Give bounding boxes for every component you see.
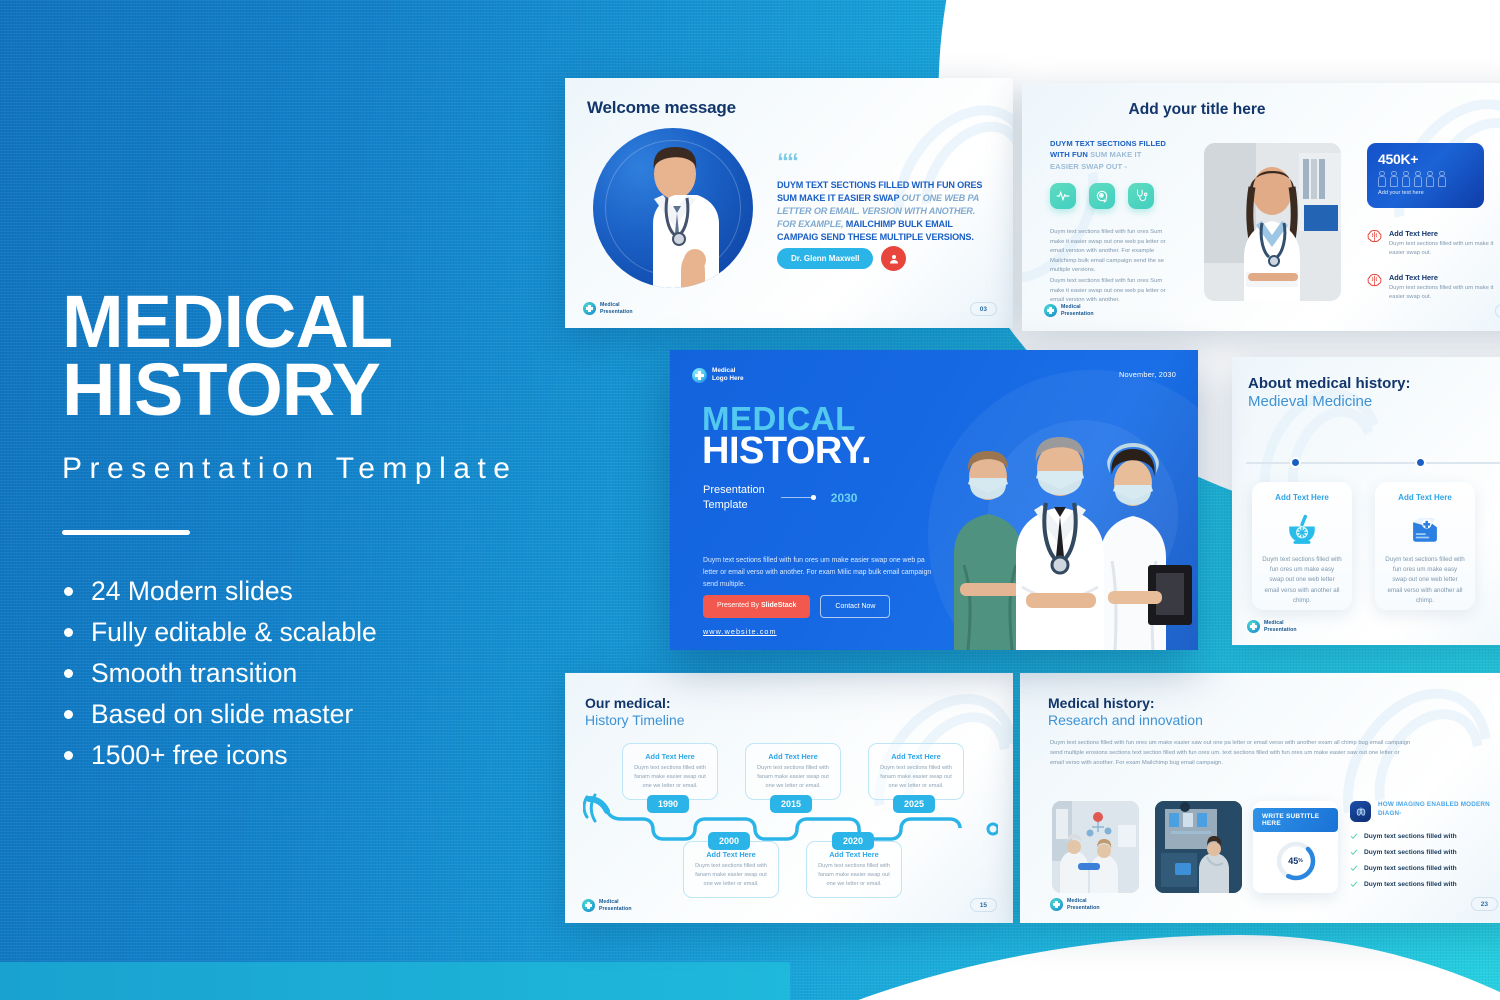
slide-heading-line2: History Timeline — [585, 712, 685, 728]
list-item: Duym text sections filled with — [1350, 832, 1500, 840]
contact-now-button[interactable]: Contact Now — [820, 595, 890, 618]
stethoscope-icon[interactable] — [1128, 183, 1154, 209]
info-card[interactable]: Add Text Here Duym text sections filled … — [1252, 482, 1352, 610]
footer-logo-line2: Presentation — [599, 906, 632, 912]
card-text: Duym text sections filled with fun ores … — [1262, 555, 1342, 606]
list-item: Based on slide master — [62, 694, 582, 735]
body-paragraph-2: Duym text sections filled with fun ores … — [1050, 277, 1175, 306]
list-item-label: Duym text sections filled with — [1364, 881, 1457, 888]
page-title-line2: HISTORY — [62, 356, 582, 424]
feature-list: 24 Modern slides Fully editable & scalab… — [62, 571, 582, 776]
decorative-bottom-strip — [0, 962, 790, 1000]
item-heading: Add Text Here — [1389, 273, 1497, 282]
hero-logo-text: Medical Logo Here — [712, 367, 744, 383]
slide-preview-welcome-message[interactable]: Welcome message ““ DUYM TEXT SECTIONS FI… — [565, 78, 1013, 328]
footer-logo: Medical Presentation — [1247, 620, 1297, 633]
hero-year: 2030 — [831, 491, 858, 505]
timeline-card[interactable]: Add Text Here Duym text sections filled … — [868, 743, 964, 800]
left-info-panel: MEDICAL HISTORY Presentation Template 24… — [62, 288, 582, 776]
mortar-pestle-icon — [1262, 508, 1342, 550]
person-icon — [1414, 171, 1420, 185]
list-item: 1500+ free icons — [62, 735, 582, 776]
author-name-pill[interactable]: Dr. Glenn Maxwell — [777, 248, 873, 269]
doctor-portrait-circle — [593, 128, 753, 288]
item-text: Duym text sections filled with um make i… — [1389, 240, 1497, 258]
medical-cross-icon — [1247, 620, 1260, 633]
stat-card: 450K+ Add your text here — [1367, 143, 1484, 208]
page-number-badge: 03 — [970, 302, 997, 316]
card-heading: Add Text Here — [630, 752, 710, 761]
slide-preview-research-innovation[interactable]: Medical history: Research and innovation… — [1020, 673, 1500, 923]
card-text: Duym text sections filled with fanam mak… — [876, 764, 956, 791]
user-icon — [881, 246, 906, 271]
hero-website-link[interactable]: www.website.com — [703, 627, 777, 636]
footer-logo-text: Medical Presentation — [1067, 898, 1100, 910]
person-icon — [1390, 171, 1396, 185]
person-icon — [1438, 171, 1444, 185]
female-doctor-photo — [1204, 143, 1341, 301]
check-icon — [1350, 832, 1358, 840]
hero-logo-line1: Medical — [712, 367, 744, 375]
timeline-year-badge: 1990 — [647, 795, 689, 813]
people-icons — [1378, 171, 1473, 185]
person-icon — [1378, 171, 1384, 185]
feature-icon-row — [1050, 183, 1154, 209]
medical-cross-icon — [692, 368, 707, 383]
card-text: Duym text sections filled with fun ores … — [1385, 555, 1465, 606]
lead-text: DUYM TEXT SECTIONS FILLED WITH FUN SUM M… — [1050, 138, 1168, 172]
item-text: Duym text sections filled with um make i… — [1389, 284, 1497, 302]
checklist: Duym text sections filled with Duym text… — [1350, 832, 1500, 888]
slide-preview-about-medical-history[interactable]: About medical history: Medieval Medicine… — [1232, 357, 1500, 645]
list-item: Duym text sections filled with — [1350, 848, 1500, 856]
timeline-year-badge: 2015 — [770, 795, 812, 813]
person-icon — [1402, 171, 1408, 185]
hero-subtitle-line1: Presentation — [703, 483, 765, 498]
footer-logo-line2: Presentation — [1061, 311, 1094, 317]
three-doctors-masked-photo — [930, 415, 1192, 650]
laboratory-equipment-photo — [1155, 801, 1242, 893]
arrow-icon — [781, 497, 815, 498]
progress-number: 45 — [1288, 856, 1298, 866]
side-panel-heading: HOW IMAGING ENABLED MODERN DIAGN- — [1378, 801, 1500, 818]
timeline-year-badge: 2000 — [708, 832, 750, 850]
slide-heading-line2: Research and innovation — [1048, 712, 1203, 728]
list-item: Fully editable & scalable — [62, 612, 582, 653]
person-icon — [1426, 171, 1432, 185]
lab-researchers-photo — [1052, 801, 1139, 893]
check-icon — [1350, 848, 1358, 856]
medical-cross-icon — [1044, 304, 1057, 317]
medical-cross-icon — [582, 899, 595, 912]
slide-preview-add-your-title[interactable]: Add your title here DUYM TEXT SECTIONS F… — [1022, 83, 1500, 331]
quote-block: ““ DUYM TEXT SECTIONS FILLED WITH FUN OR… — [777, 156, 989, 244]
slide-heading-line1: About medical history: — [1248, 375, 1411, 392]
card-heading: Add Text Here — [1262, 493, 1342, 502]
body-paragraph: Duym text sections filled with fun ores … — [1050, 739, 1415, 769]
page-number-badge: 23 — [1471, 897, 1498, 911]
list-item: Add Text Here Duym text sections filled … — [1367, 273, 1497, 302]
card-heading: Add Text Here — [691, 850, 771, 859]
info-card[interactable]: Add Text Here Duym text sections filled … — [1375, 482, 1475, 610]
footer-logo-line2: Presentation — [600, 309, 633, 315]
male-doctor-photo — [623, 140, 727, 288]
author-row: Dr. Glenn Maxwell — [777, 246, 906, 271]
slide-preview-history-timeline[interactable]: Our medical: History Timeline Add Text H… — [565, 673, 1013, 923]
hero-subtitle: Presentation Template — [703, 483, 765, 513]
footer-logo-line2: Presentation — [1264, 627, 1297, 633]
page-subtitle: Presentation Template — [62, 452, 582, 486]
footer-logo-text: Medical Presentation — [1264, 620, 1297, 632]
hero-logo-line2: Logo Here — [712, 375, 744, 383]
footer-logo: Medical Presentation — [1044, 304, 1094, 317]
list-item: Smooth transition — [62, 653, 582, 694]
slide-heading-line2: Medieval Medicine — [1248, 393, 1372, 410]
page-number-badge: 15 — [970, 898, 997, 912]
page-title: MEDICAL HISTORY — [62, 288, 582, 424]
quote-mark-icon: ““ — [777, 156, 989, 170]
research-side-panel: HOW IMAGING ENABLED MODERN DIAGN- Duym t… — [1350, 801, 1500, 896]
hero-subtitle-line2: Template — [703, 498, 765, 513]
brain-icon — [1367, 229, 1382, 243]
slide-heading: Add your title here — [1022, 101, 1372, 119]
card-text: Duym text sections filled with fanam mak… — [814, 862, 894, 889]
footer-logo-text: Medical Presentation — [1061, 304, 1094, 316]
lungs-icon — [1350, 801, 1371, 822]
timeline-year-badge: 2020 — [832, 832, 874, 850]
list-item: 24 Modern slides — [62, 571, 582, 612]
card-text: Duym text sections filled with fanam mak… — [691, 862, 771, 889]
timeline-card[interactable]: Add Text Here Duym text sections filled … — [745, 743, 841, 800]
slide-preview-hero-cover[interactable]: Medical Logo Here November, 2030 MEDICAL… — [670, 350, 1198, 650]
timeline-dot — [1415, 457, 1426, 468]
timeline-year-badge: 2025 — [893, 795, 935, 813]
hero-subtitle-row: Presentation Template 2030 — [703, 483, 857, 513]
presented-by-brand: SlideStack — [761, 602, 796, 609]
footer-logo-text: Medical Presentation — [599, 899, 632, 911]
list-item-label: Duym text sections filled with — [1364, 833, 1457, 840]
stat-value: 450K+ — [1378, 151, 1473, 167]
list-item: Duym text sections filled with — [1350, 880, 1500, 888]
card-heading: Add Text Here — [876, 752, 956, 761]
hero-button-row: Presented By SlideStack Contact Now — [703, 595, 890, 618]
card-heading: Add Text Here — [753, 752, 833, 761]
card-text: Duym text sections filled with fanam mak… — [630, 764, 710, 791]
timeline-dot — [1290, 457, 1301, 468]
progress-donut: 45% — [1275, 840, 1317, 882]
card-text: Duym text sections filled with fanam mak… — [753, 764, 833, 791]
heartbeat-icon[interactable] — [1050, 183, 1076, 209]
hero-paragraph: Duym text sections filled with fun ores … — [703, 555, 938, 591]
footer-logo-text: Medical Presentation — [600, 302, 633, 314]
slide-heading-line1: Medical history: — [1048, 695, 1155, 711]
footer-logo: Medical Presentation — [582, 899, 632, 912]
medical-cross-icon — [1050, 898, 1063, 911]
progress-value: 45% — [1275, 840, 1317, 882]
quote-text: DUYM TEXT SECTIONS FILLED WITH FUN ORES … — [777, 179, 989, 244]
brain-icon — [1367, 273, 1382, 287]
presented-by-button[interactable]: Presented By SlideStack — [703, 595, 810, 618]
footer-logo: Medical Presentation — [1050, 898, 1100, 911]
footer-logo-line2: Presentation — [1067, 905, 1100, 911]
list-item: Add Text Here Duym text sections filled … — [1367, 229, 1497, 258]
medical-cross-icon — [583, 302, 596, 315]
body-paragraph-1: Duym text sections filled with fun ores … — [1050, 228, 1175, 276]
first-aid-kit-icon — [1385, 508, 1465, 550]
hero-headline-2: HISTORY. — [702, 432, 871, 470]
hero-logo: Medical Logo Here — [692, 367, 744, 383]
check-icon — [1350, 864, 1358, 872]
item-heading: Add Text Here — [1389, 229, 1497, 238]
list-item-label: Duym text sections filled with — [1364, 849, 1457, 856]
side-panel-header: HOW IMAGING ENABLED MODERN DIAGN- — [1350, 801, 1500, 822]
progress-symbol: % — [1298, 858, 1302, 864]
slide-heading: Welcome message — [587, 98, 736, 118]
list-item-label: Duym text sections filled with — [1364, 865, 1457, 872]
write-subtitle-button[interactable]: WRITE SUBTITLE HERE — [1253, 808, 1338, 832]
presented-by-prefix: Presented By — [717, 602, 761, 609]
divider — [62, 530, 190, 535]
list-item: Duym text sections filled with — [1350, 864, 1500, 872]
slide-heading-line1: Our medical: — [585, 695, 671, 711]
check-icon — [1350, 880, 1358, 888]
stat-panel: WRITE SUBTITLE HERE 45% — [1253, 801, 1338, 893]
hero-date: November, 2030 — [1119, 370, 1176, 379]
stat-caption: Add your text here — [1378, 190, 1473, 196]
card-heading: Add Text Here — [814, 850, 894, 859]
brain-head-icon[interactable] — [1089, 183, 1115, 209]
timeline-card[interactable]: Add Text Here Duym text sections filled … — [622, 743, 718, 800]
footer-logo: Medical Presentation — [583, 302, 633, 315]
timeline-axis — [1246, 462, 1500, 464]
card-heading: Add Text Here — [1385, 493, 1465, 502]
